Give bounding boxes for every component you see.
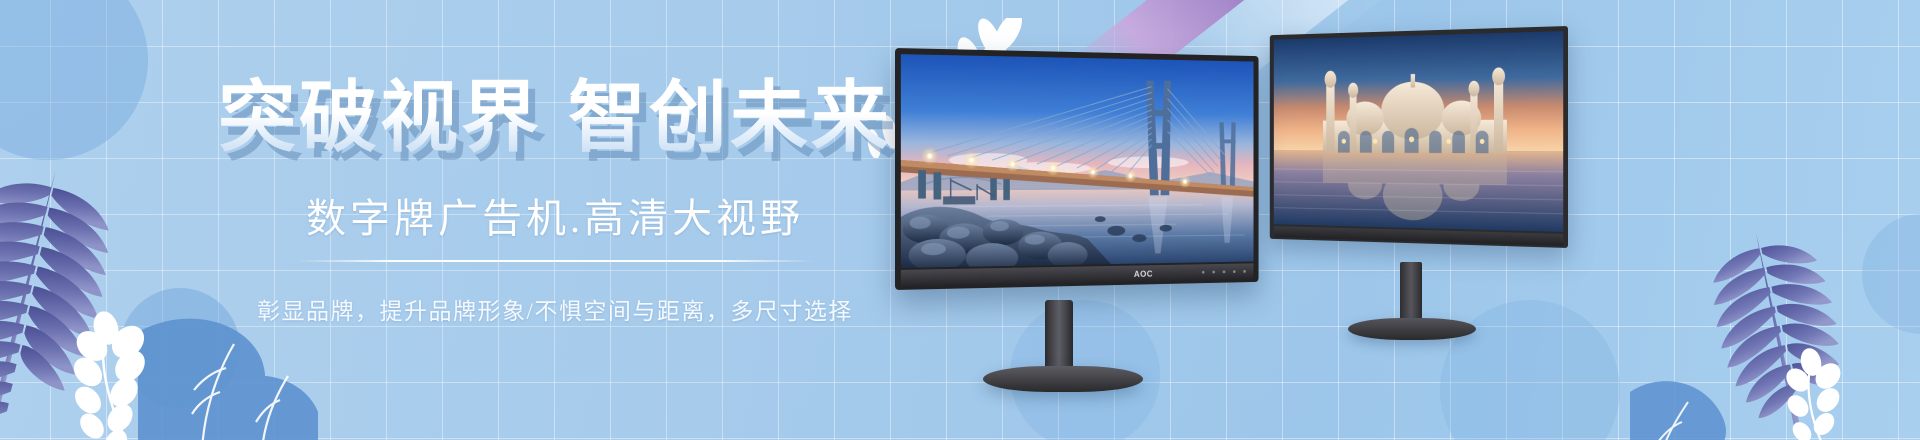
osd-buttons[interactable]: [1202, 270, 1246, 274]
headline-part-2: 智创未来: [568, 74, 892, 161]
promo-banner: AOC 突破视界智创未来 数字牌广告机.高清大视野 彰显品牌，提升品牌形象/不惧…: [0, 0, 1920, 440]
front-monitor-screen: [901, 54, 1254, 268]
rear-monitor-screen: [1274, 31, 1563, 232]
banner-text-block: 突破视界智创未来 数字牌广告机.高清大视野 彰显品牌，提升品牌形象/不惧空间与距…: [215, 74, 895, 326]
front-monitor: AOC: [895, 48, 1315, 388]
aoc-logo: AOC: [1134, 269, 1153, 279]
text-divider: [295, 260, 815, 262]
right-plant-decoration: [1630, 224, 1890, 440]
front-monitor-neck: [1045, 300, 1073, 374]
rear-monitor-base: [1348, 318, 1476, 340]
headline-part-1: 突破视界: [218, 74, 542, 161]
banner-tagline: 彰显品牌，提升品牌形象/不惧空间与距离，多尺寸选择: [215, 292, 895, 326]
banner-subhead: 数字牌广告机.高清大视野: [215, 186, 895, 244]
front-monitor-base: [983, 366, 1143, 392]
front-monitor-bezel: AOC: [895, 48, 1259, 290]
decor-circle-top-left: [0, 0, 148, 160]
banner-headline: 突破视界智创未来: [215, 74, 895, 168]
rear-monitor-neck: [1400, 262, 1422, 324]
